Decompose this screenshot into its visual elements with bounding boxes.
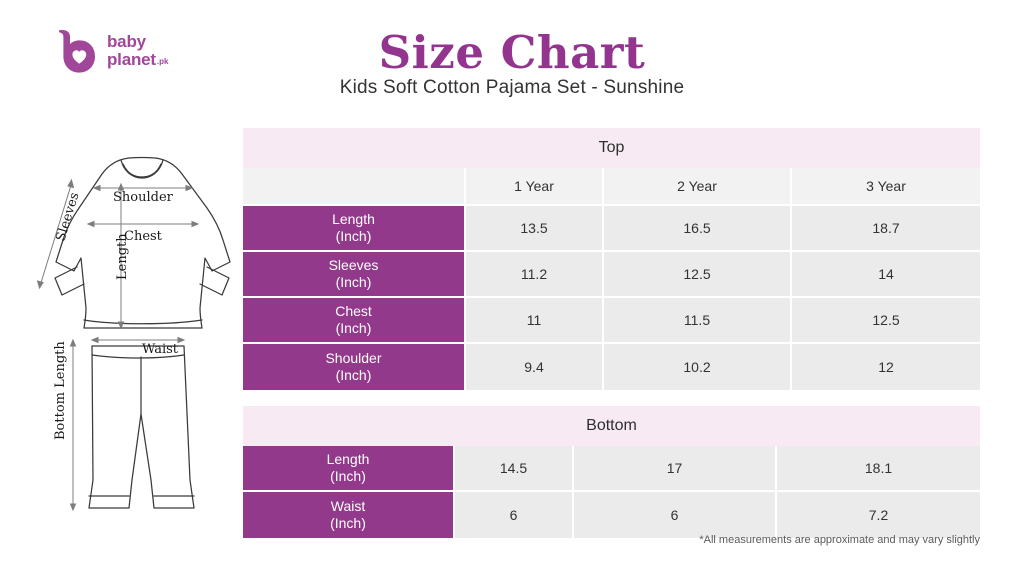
cell-shoulder-2-year: 10.2 <box>604 344 792 390</box>
row-label-chest: Chest (Inch) <box>243 298 466 344</box>
cell-length-1-year: 14.5 <box>455 446 574 492</box>
label-waist: Waist <box>142 342 179 357</box>
table-row: Sleeves (Inch) 11.2 12.5 14 <box>243 252 980 298</box>
cell-chest-3-year: 12.5 <box>792 298 980 344</box>
row-label-length: Length (Inch) <box>243 446 455 492</box>
measurements-footnote: *All measurements are approximate and ma… <box>699 534 980 546</box>
row-label-unit: (Inch) <box>336 274 372 290</box>
row-label-sleeves: Sleeves (Inch) <box>243 252 466 298</box>
table-row: Chest (Inch) 11 11.5 12.5 <box>243 298 980 344</box>
label-bottom-length: Bottom Length <box>53 341 68 440</box>
table-band-row: Bottom <box>243 406 980 446</box>
cell-waist-2-year: 6 <box>574 492 777 538</box>
row-label-unit: (Inch) <box>330 468 366 484</box>
cell-waist-3-year: 7.2 <box>777 492 980 538</box>
row-label-text: Length <box>327 451 370 467</box>
label-sleeves: Sleeves <box>53 191 82 243</box>
table-row: Length (Inch) 14.5 17 18.1 <box>243 446 980 492</box>
column-header-3-year: 3 Year <box>792 168 980 206</box>
column-header-2-year: 2 Year <box>604 168 792 206</box>
size-chart-page: baby planet .pk Size Chart Kids Soft Cot… <box>0 0 1024 576</box>
row-label-waist: Waist (Inch) <box>243 492 455 538</box>
table-band-label: Top <box>243 128 980 168</box>
row-label-text: Length <box>332 211 375 227</box>
cell-length-3-year: 18.7 <box>792 206 980 252</box>
page-subtitle: Kids Soft Cotton Pajama Set - Sunshine <box>0 77 1024 99</box>
cell-sleeves-2-year: 12.5 <box>604 252 792 298</box>
row-label-text: Waist <box>331 498 365 514</box>
row-label-text: Chest <box>335 303 372 319</box>
cell-chest-1-year: 11 <box>466 298 604 344</box>
column-header-1-year: 1 Year <box>466 168 604 206</box>
cell-chest-2-year: 11.5 <box>604 298 792 344</box>
table-corner-cell <box>243 168 466 206</box>
table-band-label: Bottom <box>243 406 980 446</box>
cell-sleeves-1-year: 11.2 <box>466 252 604 298</box>
row-label-unit: (Inch) <box>336 228 372 244</box>
row-label-unit: (Inch) <box>336 320 372 336</box>
cell-shoulder-1-year: 9.4 <box>466 344 604 390</box>
row-label-text: Shoulder <box>325 350 381 366</box>
row-label-text: Sleeves <box>329 257 379 273</box>
size-table-bottom: Bottom Length (Inch) 14.5 17 18.1 Waist … <box>243 406 980 538</box>
row-label-shoulder: Shoulder (Inch) <box>243 344 466 390</box>
table-band-row: Top <box>243 128 980 168</box>
garment-illustration: Shoulder Chest Length Sleeves Waist Bott… <box>24 150 256 542</box>
page-title: Size Chart <box>0 26 1024 79</box>
label-length: Length <box>115 233 130 280</box>
table-row: Length (Inch) 13.5 16.5 18.7 <box>243 206 980 252</box>
size-table-top: Top 1 Year 2 Year 3 Year Length (Inch) 1… <box>243 128 980 390</box>
cell-shoulder-3-year: 12 <box>792 344 980 390</box>
cell-sleeves-3-year: 14 <box>792 252 980 298</box>
pajama-pants-icon <box>89 346 194 508</box>
table-header-row: 1 Year 2 Year 3 Year <box>243 168 980 206</box>
table-row: Waist (Inch) 6 6 7.2 <box>243 492 980 538</box>
cell-waist-1-year: 6 <box>455 492 574 538</box>
cell-length-2-year: 17 <box>574 446 777 492</box>
row-label-length: Length (Inch) <box>243 206 466 252</box>
table-row: Shoulder (Inch) 9.4 10.2 12 <box>243 344 980 390</box>
cell-length-3-year: 18.1 <box>777 446 980 492</box>
row-label-unit: (Inch) <box>336 367 372 383</box>
cell-length-1-year: 13.5 <box>466 206 604 252</box>
cell-length-2-year: 16.5 <box>604 206 792 252</box>
row-label-unit: (Inch) <box>330 515 366 531</box>
label-shoulder: Shoulder <box>113 190 174 205</box>
